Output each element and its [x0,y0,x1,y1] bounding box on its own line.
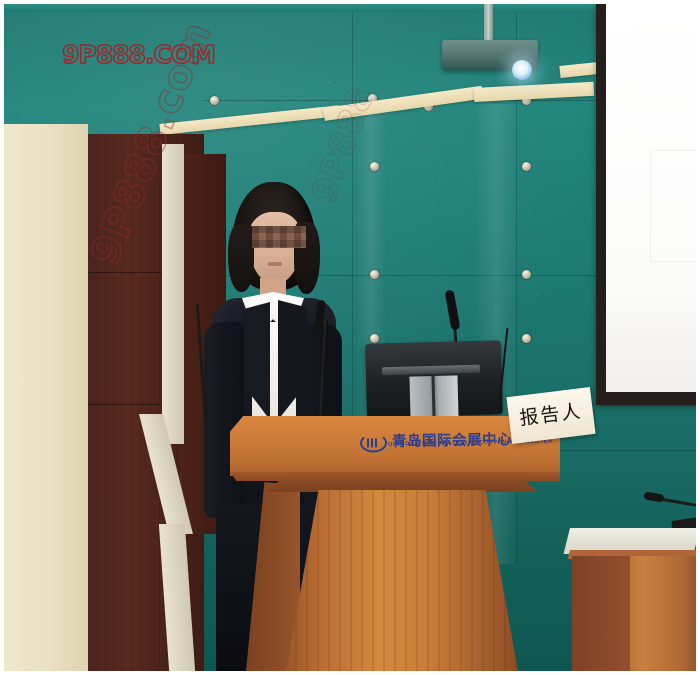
panel-stud [370,334,379,343]
light-trim-strip [162,144,184,444]
projection-screen [596,4,696,405]
ceiling-edge [4,4,696,12]
qingdao-convention-center-emblem [360,433,387,452]
projector-mount-arm [484,4,493,42]
name-card-text: 报告人 [519,402,584,429]
podium-wood-grain [286,490,518,671]
panel-stud [370,162,379,171]
speaker-podium: 青岛国际会展中心 QINGDAO INTERNATIONAL CONVENTIO… [230,408,560,671]
panel-stud [210,96,219,105]
scene-content: 青岛国际会展中心 QINGDAO INTERNATIONAL CONVENTIO… [4,4,696,671]
photograph: 青岛国际会展中心 QINGDAO INTERNATIONAL CONVENTIO… [0,0,700,675]
cream-pillar [4,124,88,671]
hair-left-side [228,224,254,292]
podium-lip [266,478,538,492]
panel-stud [522,162,531,171]
pixelated-eye-region [252,226,306,248]
projection-screen-surface [606,4,696,392]
podium-body [286,490,518,671]
panel-stud [522,334,531,343]
panel-stud [370,270,379,279]
projection-screen-faint-box [650,150,696,262]
side-table-left-face [572,556,630,671]
projector-lens [512,60,532,80]
mouth [268,262,282,266]
panel-stud [522,270,531,279]
